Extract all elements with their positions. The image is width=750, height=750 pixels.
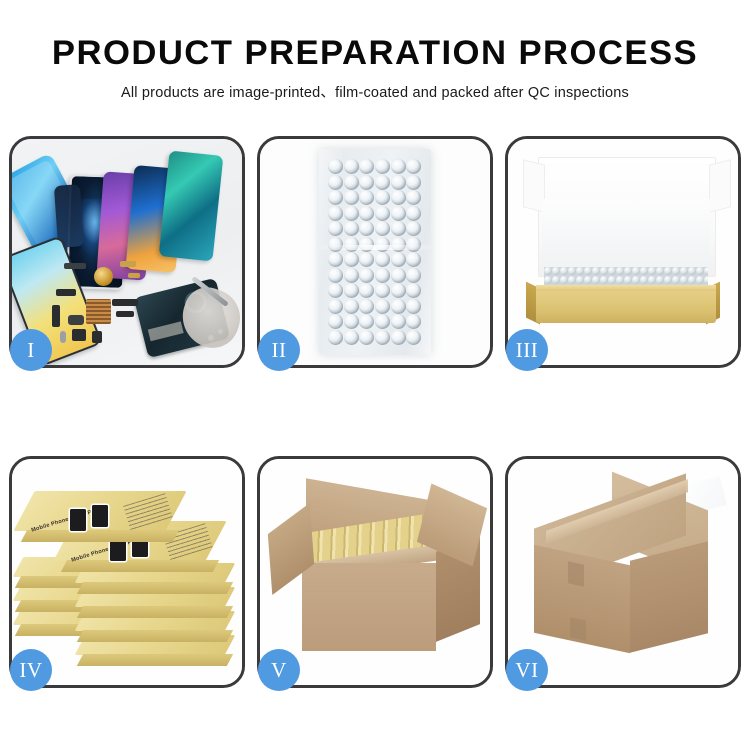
- part-flex-cable-4: [116, 311, 134, 317]
- step-badge-3: III: [506, 329, 548, 371]
- copper-grid-component: [86, 299, 111, 324]
- step-panel-6: VI: [505, 456, 741, 688]
- mailer-front-panel: [536, 291, 716, 323]
- part-flex-cable-1: [56, 289, 76, 296]
- step-badge-2: II: [258, 329, 300, 371]
- box-stack: Mobile Phone Spare Parts Mobile Phone Sp…: [18, 485, 242, 675]
- step-6-image: [508, 459, 738, 685]
- part-button: [92, 331, 102, 343]
- step-panel-3: III: [505, 136, 741, 368]
- step-4-image: Mobile Phone Spare Parts Mobile Phone Sp…: [12, 459, 242, 685]
- bubble-wrap-pouch: [319, 149, 431, 355]
- step-5-image: [260, 459, 490, 685]
- step-2-image: [260, 139, 490, 365]
- step-1-image: [12, 139, 242, 365]
- page-title: PRODUCT PREPARATION PROCESS: [0, 36, 750, 72]
- box-phone-image-4: [92, 505, 108, 527]
- bubble-grid: [328, 159, 422, 345]
- product-preparation-infographic: PRODUCT PREPARATION PROCESS All products…: [0, 0, 750, 750]
- step-badge-5: V: [258, 649, 300, 691]
- step-panel-1: I: [9, 136, 245, 368]
- process-steps-grid: I: [8, 136, 742, 688]
- stacked-box-labeled-back: Mobile Phone Spare Parts: [24, 491, 176, 531]
- part-camera-module: [72, 329, 86, 341]
- step-3-image: [508, 139, 738, 365]
- part-flex-cable-2: [52, 305, 60, 327]
- step-badge-1: I: [10, 329, 52, 371]
- carton-front-panel: [302, 563, 436, 651]
- wireless-charging-coil-icon: [94, 267, 113, 286]
- box-phone-image-3: [70, 509, 86, 531]
- part-speaker: [68, 315, 84, 325]
- step-badge-4: IV: [10, 649, 52, 691]
- packing-tape-side-lower: [570, 617, 586, 640]
- step-panel-5: V: [257, 456, 493, 688]
- packing-tape-side-upper: [568, 561, 584, 586]
- step-panel-2: II: [257, 136, 493, 368]
- mailer-foam-liner: [542, 199, 710, 271]
- box-phone-image-1: [110, 539, 126, 561]
- part-connector-1: [64, 263, 86, 269]
- phone-screen-green: [159, 150, 224, 261]
- page-subtitle: All products are image-printed、film-coat…: [0, 81, 750, 102]
- header: PRODUCT PREPARATION PROCESS All products…: [0, 0, 750, 102]
- step-badge-6: VI: [506, 649, 548, 691]
- sealed-carton-right-panel: [630, 541, 708, 652]
- part-screw-1: [60, 331, 66, 343]
- part-bracket-gold-2: [128, 273, 140, 278]
- part-flex-cable-3: [112, 299, 138, 306]
- part-bracket-gold: [120, 261, 136, 267]
- step-panel-4: Mobile Phone Spare Parts Mobile Phone Sp…: [9, 456, 245, 688]
